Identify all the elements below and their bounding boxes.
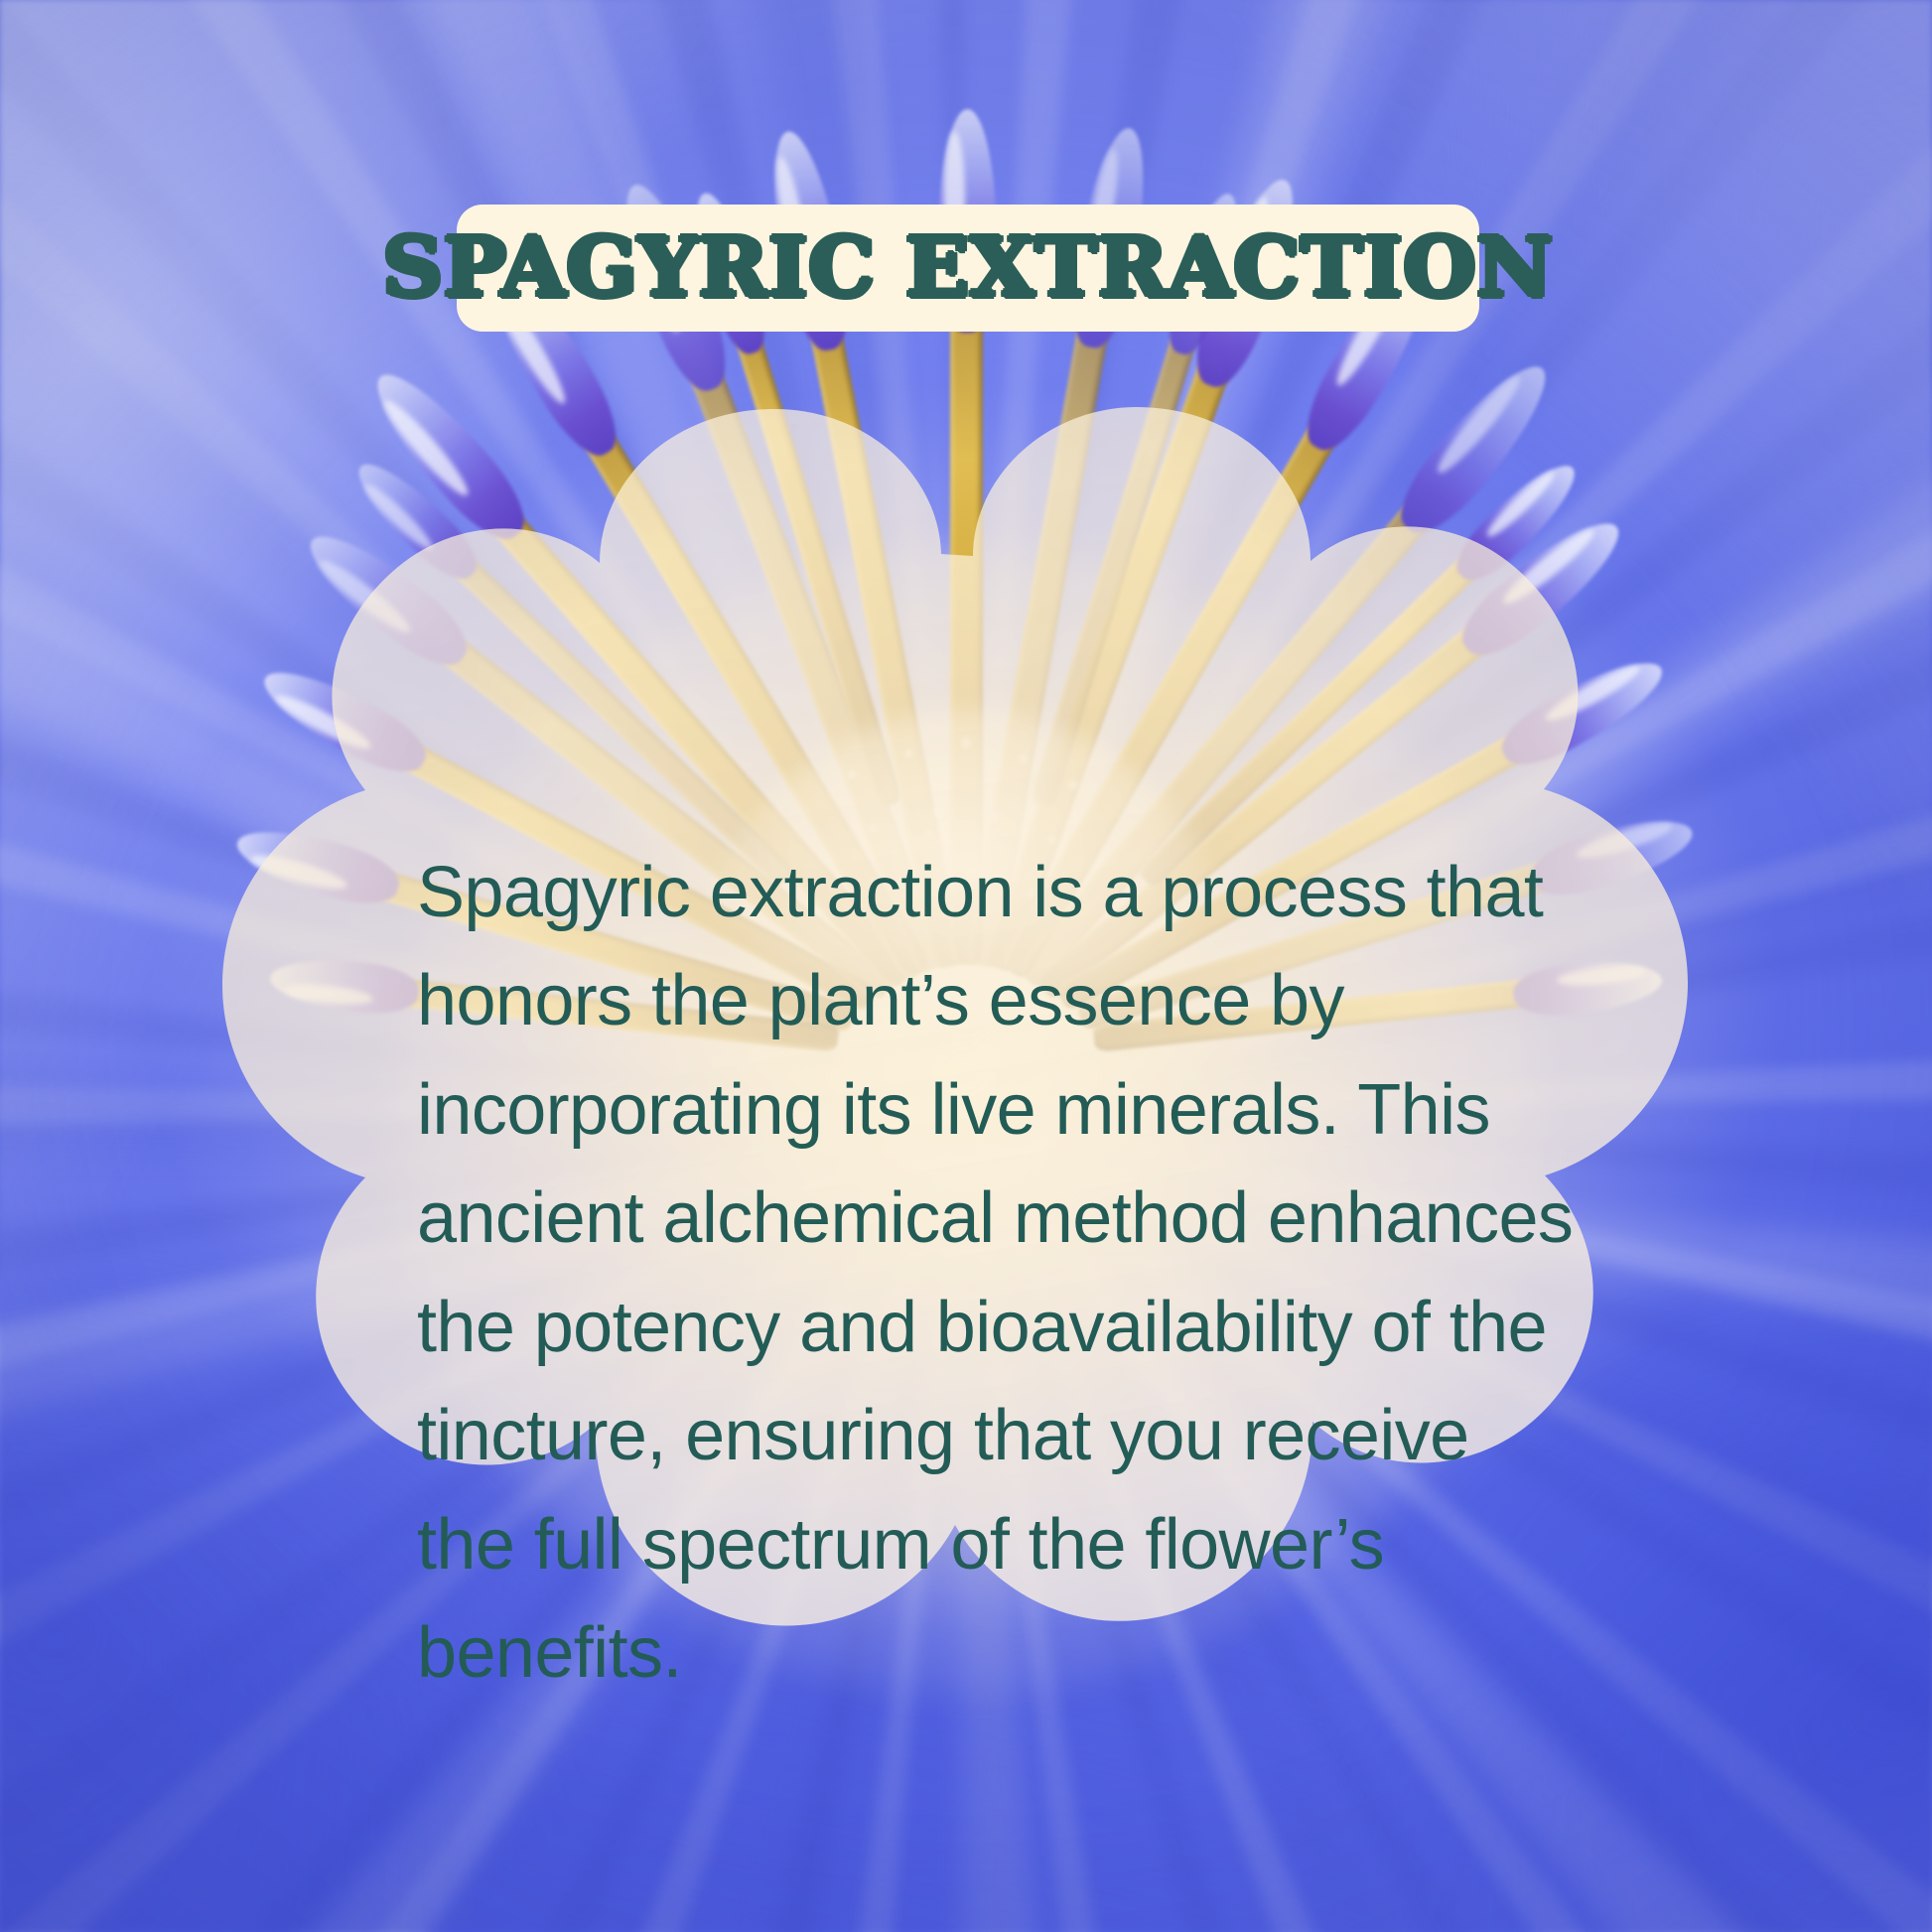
- page-title: SPAGYRIC EXTRACTION: [382, 220, 1553, 316]
- stamen-tip: [253, 655, 436, 786]
- body-paragraph: Spagyric extraction is a process that ho…: [417, 839, 1708, 1709]
- title-banner: SPAGYRIC EXTRACTION: [457, 205, 1479, 332]
- stamen-tip: [1492, 645, 1675, 778]
- poster-canvas: SPAGYRIC EXTRACTION Spagyric extraction …: [0, 0, 1932, 1932]
